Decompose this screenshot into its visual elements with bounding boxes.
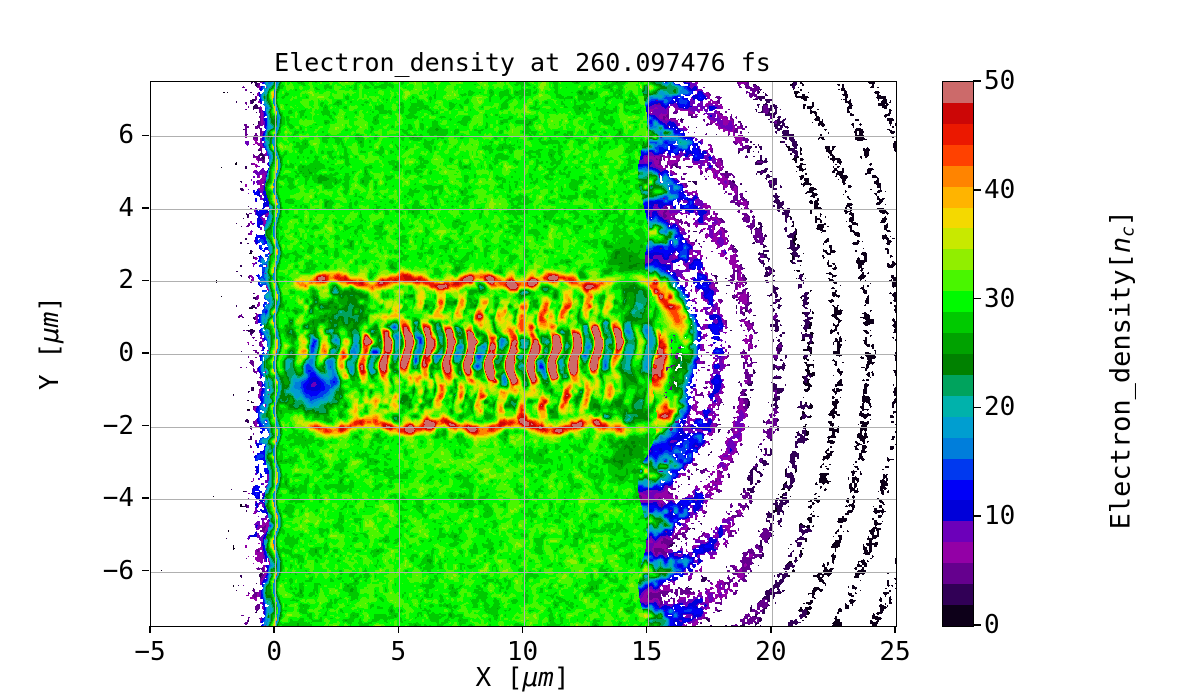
x-axis-label-prefix: X [ <box>476 663 523 693</box>
colorbar-tick-mark <box>973 298 981 300</box>
colorbar-label-subscript: c <box>1119 226 1139 237</box>
colorbar-tick-mark <box>973 189 981 191</box>
colorbar-tick-mark <box>973 515 981 517</box>
x-tick-mark <box>273 626 275 633</box>
y-tick-mark <box>142 425 149 427</box>
colorbar-tick-mark <box>973 407 981 409</box>
colorbar-tick-label: 30 <box>984 284 1015 314</box>
colorbar-label: Electron_density[nc] <box>1105 160 1138 580</box>
y-axis-label: Y [μm] <box>35 243 65 443</box>
y-tick-label: −2 <box>103 411 134 441</box>
colorbar-tick-label: 10 <box>984 501 1015 531</box>
colorbar-tick-mark <box>973 624 981 626</box>
colorbar-tick-mark <box>973 80 981 82</box>
colorbar-tick-label: 40 <box>984 175 1015 205</box>
colorbar-label-text: Electron_density[ <box>1105 253 1136 529</box>
x-axis-label: X [μm] <box>150 663 895 693</box>
y-tick-mark <box>142 207 149 209</box>
colorbar-label-symbol: n <box>1105 237 1136 253</box>
figure-canvas: Electron_density at 260.097476 fs −50510… <box>0 0 1200 700</box>
x-tick-mark <box>646 626 648 633</box>
y-tick-label: 4 <box>118 193 134 223</box>
colorbar-tick-label: 20 <box>984 392 1015 422</box>
y-tick-mark <box>142 135 149 137</box>
y-tick-mark <box>142 352 149 354</box>
x-tick-mark <box>398 626 400 633</box>
x-tick-mark <box>894 626 896 633</box>
x-axis-label-unit: μm <box>523 663 554 693</box>
x-tick-mark <box>770 626 772 633</box>
y-tick-mark <box>142 570 149 572</box>
colorbar-tick-label: 50 <box>984 66 1015 96</box>
y-tick-label: 6 <box>118 120 134 150</box>
y-tick-label: −4 <box>103 483 134 513</box>
y-tick-label: −6 <box>103 556 134 586</box>
electron-density-heatmap <box>151 82 896 626</box>
plot-axes[interactable] <box>150 81 897 627</box>
y-tick-mark <box>142 497 149 499</box>
y-tick-mark <box>142 280 149 282</box>
colorbar[interactable] <box>942 81 974 627</box>
y-axis-label-prefix: Y [ <box>35 343 65 390</box>
y-axis-label-suffix: ] <box>35 296 65 312</box>
y-tick-label: 0 <box>118 338 134 368</box>
colorbar-gradient <box>943 82 973 626</box>
page-title: Electron_density at 260.097476 fs <box>150 48 895 77</box>
colorbar-tick-label: 0 <box>984 610 1000 640</box>
x-tick-mark <box>149 626 151 633</box>
x-tick-mark <box>522 626 524 633</box>
y-tick-label: 2 <box>118 265 134 295</box>
x-axis-label-suffix: ] <box>554 663 570 693</box>
colorbar-label-close: ] <box>1105 210 1136 226</box>
y-axis-label-unit: μm <box>35 312 65 343</box>
